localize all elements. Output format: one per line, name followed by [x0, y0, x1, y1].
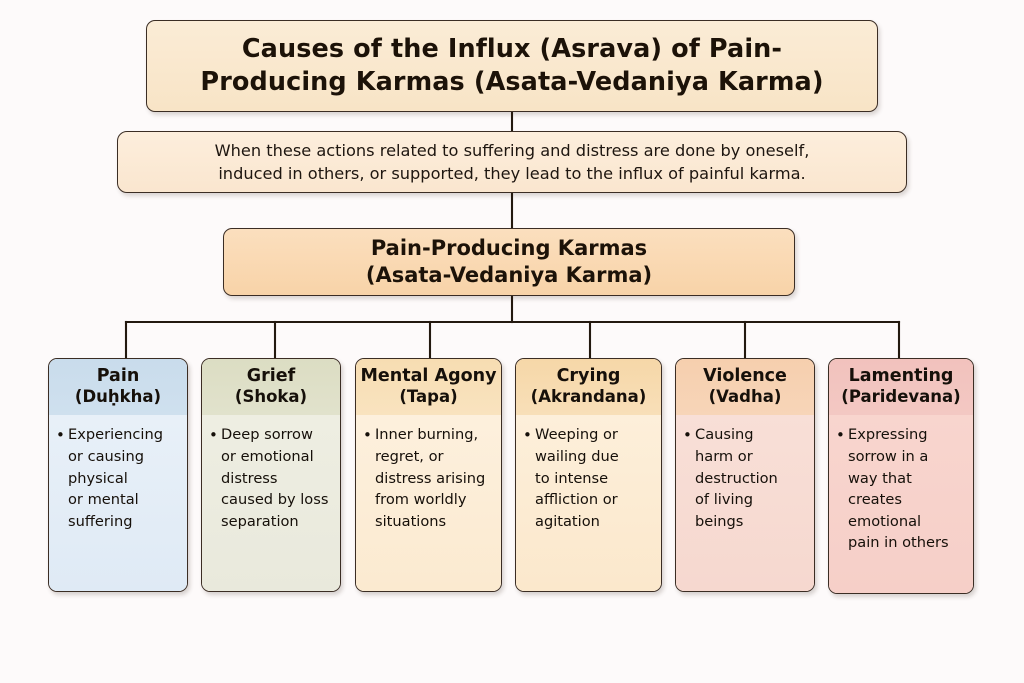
page-title-line-2: Producing Karmas (Asata-Vedaniya Karma) [200, 66, 823, 99]
card-term: Crying [520, 366, 657, 387]
card-grief: Grief (Shoka) • Deep sorrow or emotional… [201, 358, 341, 592]
card-crying: Crying (Akrandana) • Weeping or wailing … [515, 358, 662, 592]
bullet-marker: • [363, 424, 372, 446]
card-line: of living [695, 489, 807, 511]
card-line: Expressing [848, 424, 966, 446]
card-header: Pain (Duḥkha) [49, 359, 187, 415]
card-sanskrit: (Vadha) [680, 387, 810, 407]
card-line: agitation [535, 511, 654, 533]
flowchart-canvas: Causes of the Influx (Asrava) of Pain- P… [0, 0, 1024, 683]
bullet-marker: • [836, 424, 845, 446]
card-line: caused by loss [221, 489, 333, 511]
card-body: • Weeping or wailing due to intense affl… [516, 415, 661, 591]
card-header: Lamenting (Paridevana) [829, 359, 973, 415]
card-line: distress arising [375, 468, 494, 490]
card-sanskrit: (Duḥkha) [53, 387, 183, 407]
card-line: Inner burning, [375, 424, 494, 446]
card-body: • Causing harm or destruction of living … [676, 415, 814, 591]
card-body: • Deep sorrow or emotional distress caus… [202, 415, 340, 591]
bullet-marker: • [56, 424, 65, 446]
card-line: from worldly [375, 489, 494, 511]
card-line: or causing [68, 446, 180, 468]
card-mental-agony: Mental Agony (Tapa) • Inner burning, reg… [355, 358, 502, 592]
card-line: suffering [68, 511, 180, 533]
card-line: harm or [695, 446, 807, 468]
card-line: sorrow in a [848, 446, 966, 468]
chart-title-node: Causes of the Influx (Asrava) of Pain- P… [146, 20, 878, 112]
pain-producing-karmas-node: Pain-Producing Karmas (Asata-Vedaniya Ka… [223, 228, 795, 296]
card-line: Deep sorrow [221, 424, 333, 446]
card-header: Crying (Akrandana) [516, 359, 661, 415]
card-line: destruction [695, 468, 807, 490]
card-body: • Expressing sorrow in a way that create… [829, 415, 973, 593]
card-line: affliction or [535, 489, 654, 511]
card-term: Pain [53, 366, 183, 387]
subtitle-line-2: induced in others, or supported, they le… [218, 162, 805, 185]
mid-node-line-2: (Asata-Vedaniya Karma) [366, 262, 652, 289]
card-line: Weeping or [535, 424, 654, 446]
card-lamenting: Lamenting (Paridevana) • Expressing sorr… [828, 358, 974, 594]
card-sanskrit: (Akrandana) [520, 387, 657, 407]
card-line: separation [221, 511, 333, 533]
card-line: distress [221, 468, 333, 490]
card-line: situations [375, 511, 494, 533]
subtitle-node: When these actions related to suffering … [117, 131, 907, 193]
card-term: Lamenting [833, 366, 969, 387]
card-line: Causing [695, 424, 807, 446]
card-line: creates [848, 489, 966, 511]
card-header: Violence (Vadha) [676, 359, 814, 415]
card-line: pain in others [848, 532, 966, 554]
card-line: to intense [535, 468, 654, 490]
card-sanskrit: (Tapa) [360, 387, 497, 407]
bullet-marker: • [523, 424, 532, 446]
bullet-marker: • [683, 424, 692, 446]
card-line: way that [848, 468, 966, 490]
card-term: Grief [206, 366, 336, 387]
card-line: or mental [68, 489, 180, 511]
card-sanskrit: (Paridevana) [833, 387, 969, 407]
card-violence: Violence (Vadha) • Causing harm or destr… [675, 358, 815, 592]
bullet-marker: • [209, 424, 218, 446]
mid-node-line-1: Pain-Producing Karmas [371, 235, 647, 262]
subtitle-line-1: When these actions related to suffering … [215, 139, 810, 162]
card-body: • Inner burning, regret, or distress ari… [356, 415, 501, 591]
card-line: wailing due [535, 446, 654, 468]
card-pain: Pain (Duḥkha) • Experiencing or causing … [48, 358, 188, 592]
card-line: beings [695, 511, 807, 533]
card-term: Mental Agony [360, 366, 497, 387]
card-header: Mental Agony (Tapa) [356, 359, 501, 415]
card-term: Violence [680, 366, 810, 387]
card-line: Experiencing [68, 424, 180, 446]
card-line: regret, or [375, 446, 494, 468]
card-header: Grief (Shoka) [202, 359, 340, 415]
card-line: physical [68, 468, 180, 490]
card-sanskrit: (Shoka) [206, 387, 336, 407]
card-line: emotional [848, 511, 966, 533]
page-title-line-1: Causes of the Influx (Asrava) of Pain- [242, 33, 782, 66]
card-line: or emotional [221, 446, 333, 468]
card-body: • Experiencing or causing physical or me… [49, 415, 187, 591]
